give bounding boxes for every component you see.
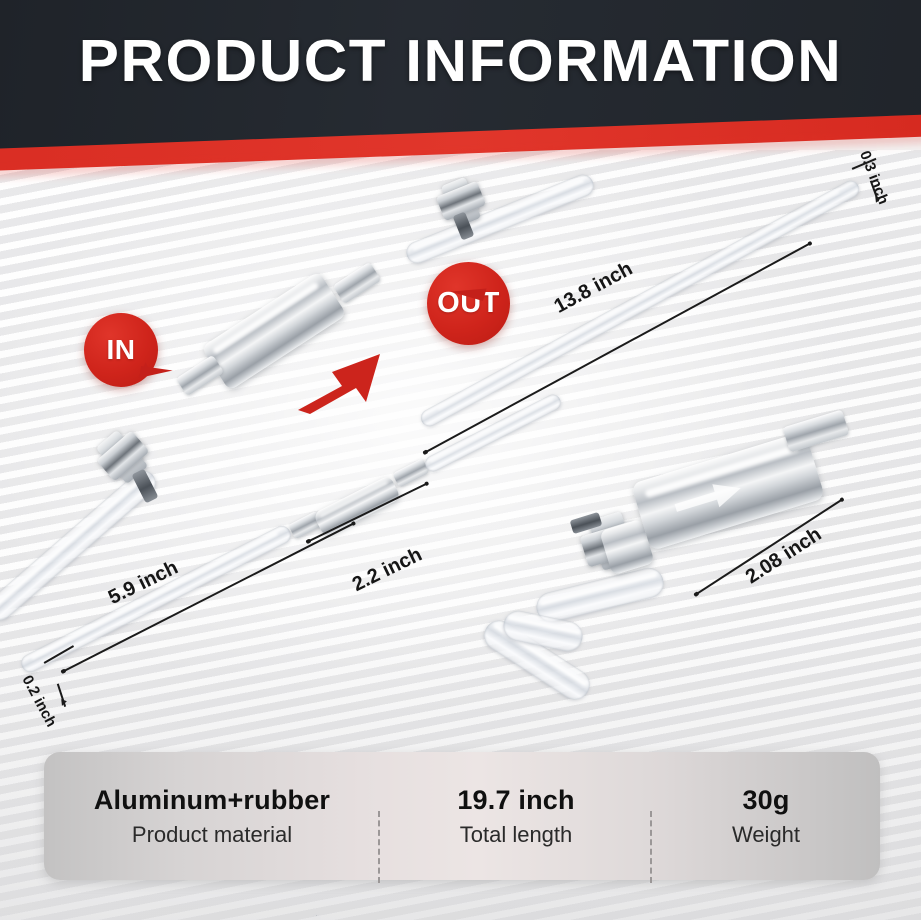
badge-out: OUT	[427, 262, 510, 345]
top-clear-hose	[403, 171, 597, 266]
middle-small-filter-body	[316, 915, 317, 916]
red-arrow-svg	[296, 348, 384, 416]
spec-length-value: 19.7 inch	[380, 783, 652, 817]
top-hose-with-clamp	[395, 160, 605, 260]
badge-in-label: IN	[107, 334, 136, 366]
spec-material-label: Product material	[44, 820, 380, 850]
spec-column-material: Aluminum+rubber Product material	[44, 783, 380, 850]
middle-filter-sheen	[319, 480, 388, 517]
spec-weight-value: 30g	[652, 783, 880, 817]
specification-panel: Aluminum+rubber Product material 19.7 in…	[44, 752, 880, 880]
spec-column-weight: 30g Weight	[652, 783, 880, 850]
large-filter-hose-upper	[533, 565, 666, 626]
spec-column-length: 19.7 inch Total length	[380, 783, 652, 850]
small-filter-inlet-barb	[176, 355, 224, 397]
large-filter-assembly	[455, 420, 875, 720]
small-filter-outlet-barb	[333, 262, 382, 304]
spec-length-label: Total length	[380, 820, 652, 850]
middle-filter-body	[313, 475, 401, 537]
product-information-infographic: PRODUCT INFORMATION IN OUT	[0, 0, 921, 920]
small-filter-sheen	[212, 282, 319, 354]
spec-material-value: Aluminum+rubber	[44, 783, 380, 817]
red-arrow-icon	[296, 348, 384, 416]
spec-weight-label: Weight	[652, 820, 880, 850]
page-title: PRODUCT INFORMATION	[0, 30, 921, 92]
